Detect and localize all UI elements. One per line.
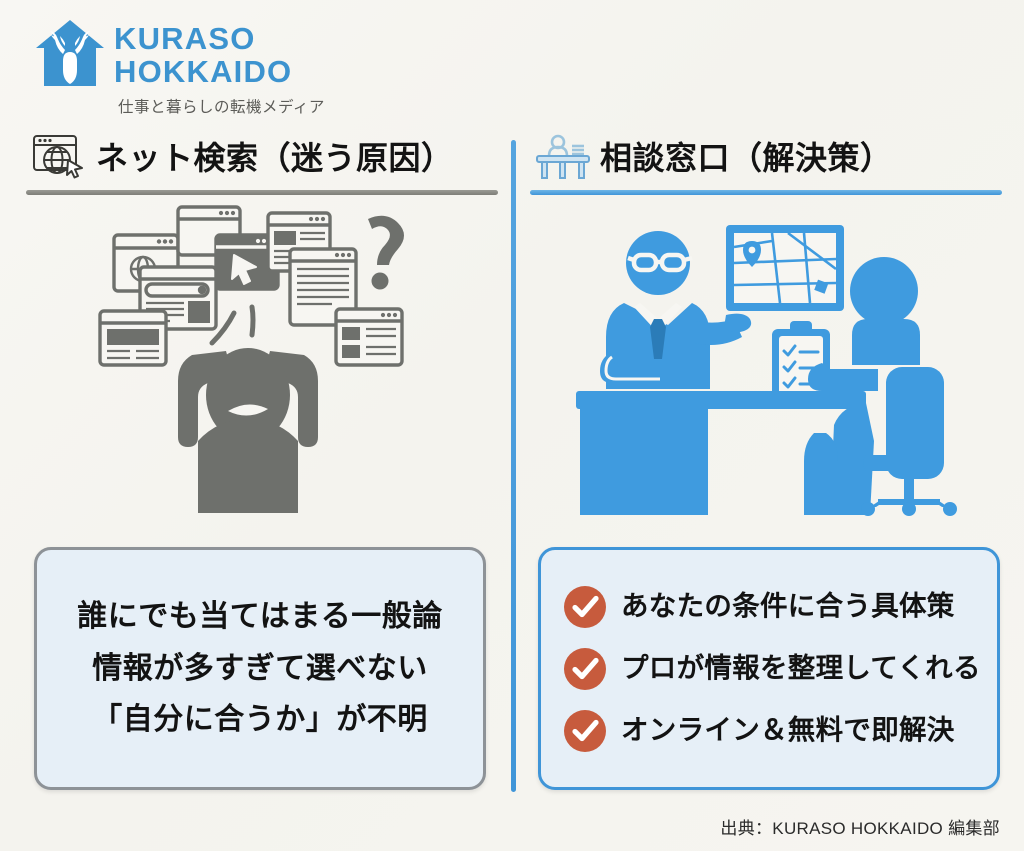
benefit-item: プロが情報を整理してくれる bbox=[541, 647, 997, 691]
browser-globe-cursor-icon bbox=[30, 132, 88, 180]
check-circle-icon bbox=[563, 709, 607, 753]
pain-point-item: 「自分に合うか」が不明 bbox=[37, 703, 483, 737]
reception-desk-icon bbox=[534, 132, 592, 180]
house-deer-logo-icon bbox=[34, 16, 106, 92]
column-divider bbox=[511, 140, 516, 792]
check-circle-icon bbox=[563, 647, 607, 691]
benefit-label: プロが情報を整理してくれる bbox=[621, 653, 981, 683]
right-column: 相談窓口（解決策） bbox=[530, 128, 1002, 519]
question-mark-icon bbox=[368, 216, 404, 290]
infographic-page: KURASO HOKKAIDO 仕事と暮らしの転機メディア bbox=[0, 0, 1024, 851]
confused-person-with-browser-windows-illustration bbox=[92, 205, 432, 517]
benefit-label: あなたの条件に合う具体策 bbox=[621, 591, 955, 621]
left-column: ネット検索（迷う原因） bbox=[26, 128, 498, 519]
left-title: ネット検索（迷う原因） bbox=[96, 133, 454, 179]
benefit-item: あなたの条件に合う具体策 bbox=[541, 585, 997, 629]
check-circle-icon bbox=[563, 585, 607, 629]
left-header: ネット検索（迷う原因） bbox=[26, 128, 498, 184]
benefit-item: オンライン＆無料で即解決 bbox=[541, 709, 997, 753]
pain-points-box: 誰にでも当てはまる一般論 情報が多すぎて選べない 「自分に合うか」が不明 bbox=[34, 547, 486, 790]
right-title-underline bbox=[530, 190, 1002, 195]
brand-logo: KURASO HOKKAIDO 仕事と暮らしの転機メディア bbox=[34, 16, 325, 117]
benefit-label: オンライン＆無料で即解決 bbox=[621, 715, 955, 745]
left-illustration bbox=[26, 203, 498, 519]
pain-point-item: 誰にでも当てはまる一般論 bbox=[37, 600, 483, 634]
source-attribution: 出典：KURASO HOKKAIDO 編集部 bbox=[720, 814, 1000, 839]
browser-window bbox=[100, 311, 166, 365]
brand-tagline: 仕事と暮らしの転機メディア bbox=[118, 95, 325, 117]
brand-name-line2: HOKKAIDO bbox=[114, 55, 325, 88]
consultation-counter-scene-illustration bbox=[566, 203, 966, 519]
right-title: 相談窓口（解決策） bbox=[600, 133, 893, 179]
right-header: 相談窓口（解決策） bbox=[530, 128, 1002, 184]
left-title-underline bbox=[26, 190, 498, 195]
chair-wheels bbox=[861, 499, 957, 516]
confused-person-figure bbox=[178, 348, 318, 513]
browser-window bbox=[336, 309, 402, 365]
stress-lines bbox=[212, 307, 253, 343]
benefits-box: あなたの条件に合う具体策 プロが情報を整理してくれる オンライン＆無料で即解決 bbox=[538, 547, 1000, 790]
brand-name-line1: KURASO bbox=[114, 22, 325, 55]
right-illustration bbox=[530, 203, 1002, 519]
pain-point-item: 情報が多すぎて選べない bbox=[37, 652, 483, 686]
map-board bbox=[726, 225, 844, 311]
